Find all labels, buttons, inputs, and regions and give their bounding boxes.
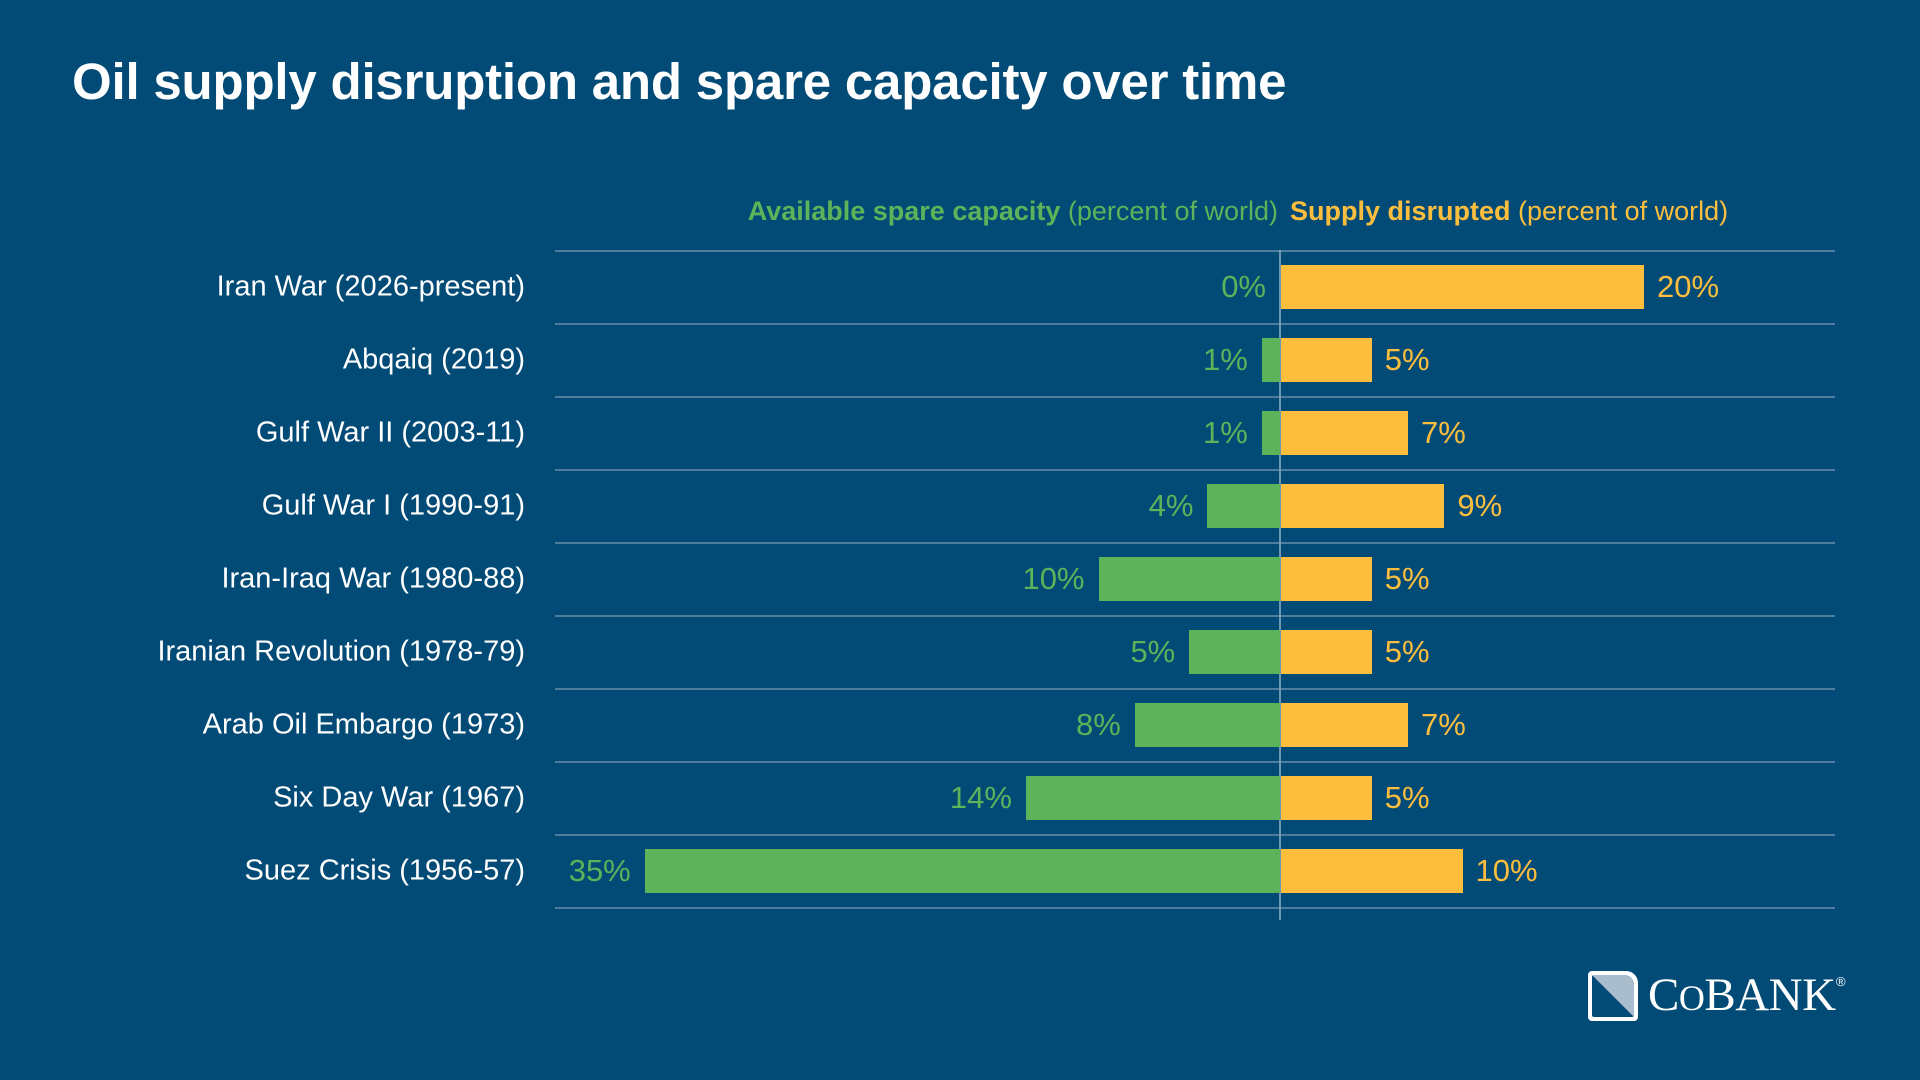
value-label-spare-capacity: 10% — [1022, 561, 1084, 597]
value-label-supply-disrupted: 10% — [1476, 853, 1538, 889]
row-category-label: Six Day War (1967) — [273, 781, 525, 814]
value-label-spare-capacity: 1% — [1203, 415, 1248, 451]
cobank-logo-mark-icon — [1588, 971, 1638, 1021]
value-label-supply-disrupted: 5% — [1385, 780, 1430, 816]
legend-spare-capacity-unit: (percent of world) — [1068, 196, 1278, 226]
chart-row: Arab Oil Embargo (1973)8%7% — [0, 688, 1920, 761]
bar-supply-disrupted — [1281, 484, 1444, 528]
chart-row: Iran-Iraq War (1980-88)10%5% — [0, 542, 1920, 615]
chart-row: Iranian Revolution (1978-79)5%5% — [0, 615, 1920, 688]
bar-supply-disrupted — [1281, 703, 1408, 747]
bar-supply-disrupted — [1281, 265, 1644, 309]
value-label-spare-capacity: 14% — [950, 780, 1012, 816]
registered-trademark-icon: ® — [1836, 974, 1846, 989]
row-category-label: Arab Oil Embargo (1973) — [203, 708, 525, 741]
legend-supply-disrupted: Supply disrupted (percent of world) — [1290, 196, 1728, 227]
row-category-label: Iranian Revolution (1978-79) — [157, 635, 525, 668]
bar-supply-disrupted — [1281, 338, 1372, 382]
legend-spare-capacity-label: Available spare capacity — [748, 196, 1061, 226]
chart-row: Abqaiq (2019)1%5% — [0, 323, 1920, 396]
value-label-spare-capacity: 1% — [1203, 342, 1248, 378]
chart-row: Suez Crisis (1956-57)35%10% — [0, 834, 1920, 907]
bar-spare-capacity — [1189, 630, 1280, 674]
row-category-label: Abqaiq (2019) — [343, 343, 525, 376]
bar-supply-disrupted — [1281, 776, 1372, 820]
legend-supply-disrupted-unit: (percent of world) — [1518, 196, 1728, 226]
bar-spare-capacity — [1262, 411, 1280, 455]
row-category-label: Iran-Iraq War (1980-88) — [221, 562, 525, 595]
value-label-spare-capacity: 8% — [1076, 707, 1121, 743]
value-label-spare-capacity: 5% — [1130, 634, 1175, 670]
bar-spare-capacity — [1099, 557, 1281, 601]
bar-supply-disrupted — [1281, 557, 1372, 601]
logo-letters-bank: BANK — [1704, 969, 1835, 1021]
value-label-supply-disrupted: 7% — [1421, 415, 1466, 451]
value-label-supply-disrupted: 5% — [1385, 342, 1430, 378]
bar-supply-disrupted — [1281, 849, 1463, 893]
row-category-label: Iran War (2026-present) — [217, 270, 525, 303]
cobank-logo: COBANK ® — [1588, 968, 1848, 1030]
bar-supply-disrupted — [1281, 630, 1372, 674]
value-label-supply-disrupted: 5% — [1385, 561, 1430, 597]
value-label-supply-disrupted: 7% — [1421, 707, 1466, 743]
chart-row: Six Day War (1967)14%5% — [0, 761, 1920, 834]
chart-plot-area: Iran War (2026-present)0%20%Abqaiq (2019… — [0, 250, 1920, 920]
chart-row: Gulf War I (1990-91)4%9% — [0, 469, 1920, 542]
row-category-label: Gulf War I (1990-91) — [262, 489, 525, 522]
value-label-supply-disrupted: 9% — [1457, 488, 1502, 524]
chart-row: Iran War (2026-present)0%20% — [0, 250, 1920, 323]
bar-spare-capacity — [1207, 484, 1280, 528]
gridline — [555, 907, 1835, 909]
legend-supply-disrupted-label: Supply disrupted — [1290, 196, 1511, 226]
row-category-label: Suez Crisis (1956-57) — [245, 854, 525, 887]
value-label-supply-disrupted: 20% — [1657, 269, 1719, 305]
bar-spare-capacity — [1135, 703, 1280, 747]
value-label-spare-capacity: 35% — [569, 853, 631, 889]
value-label-supply-disrupted: 5% — [1385, 634, 1430, 670]
bar-supply-disrupted — [1281, 411, 1408, 455]
logo-letter-o: O — [1679, 978, 1705, 1018]
value-label-spare-capacity: 4% — [1149, 488, 1194, 524]
row-category-label: Gulf War II (2003-11) — [256, 416, 525, 449]
chart-legend: Available spare capacity (percent of wor… — [0, 196, 1920, 232]
page-title: Oil supply disruption and spare capacity… — [72, 52, 1286, 111]
cobank-logo-text: COBANK — [1648, 968, 1836, 1022]
legend-spare-capacity: Available spare capacity (percent of wor… — [748, 196, 1278, 227]
value-label-spare-capacity: 0% — [1221, 269, 1266, 305]
bar-spare-capacity — [1262, 338, 1280, 382]
chart-row: Gulf War II (2003-11)1%7% — [0, 396, 1920, 469]
bar-spare-capacity — [1026, 776, 1280, 820]
bar-spare-capacity — [645, 849, 1280, 893]
logo-letter-c: C — [1648, 969, 1679, 1021]
